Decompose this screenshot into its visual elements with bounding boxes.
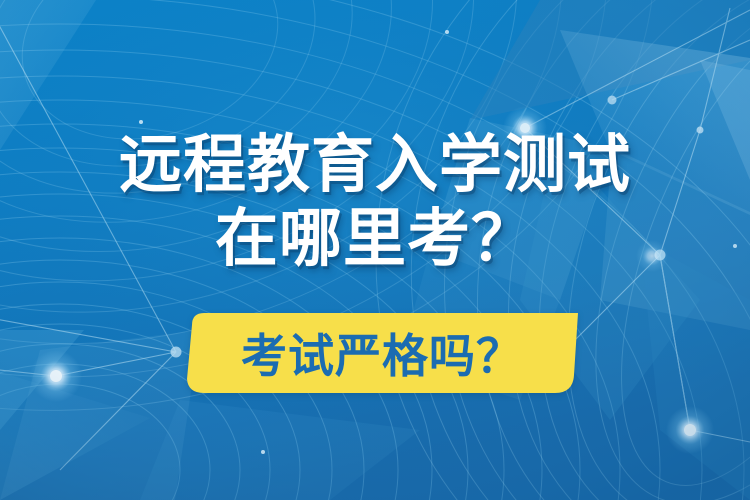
promo-banner: 远程教育入学测试 在哪里考？ 考试严格吗？ [0, 0, 750, 500]
subtitle-tag-text: 考试严格吗？ [178, 311, 586, 395]
background-artwork [0, 0, 750, 500]
subtitle-tag: 考试严格吗？ [178, 311, 586, 397]
